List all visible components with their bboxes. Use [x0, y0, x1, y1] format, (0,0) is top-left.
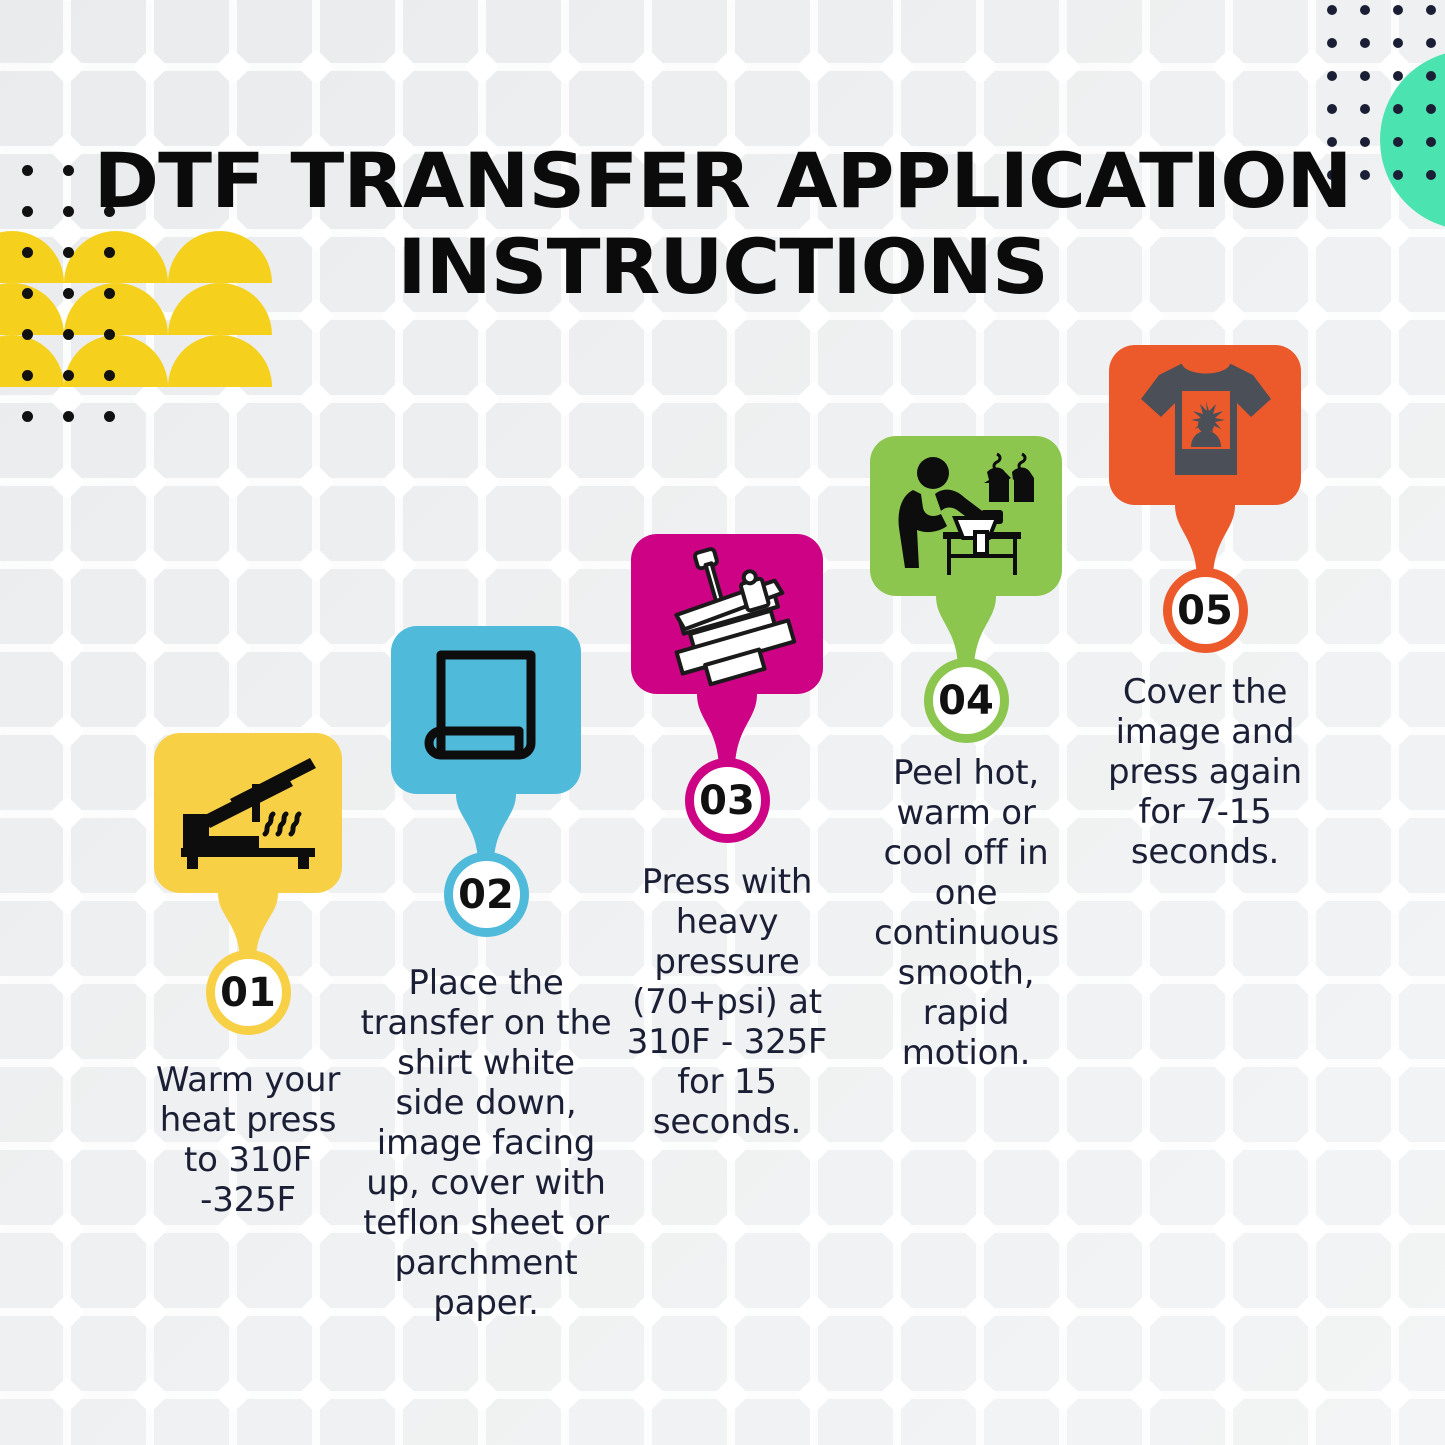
decor-dot	[1360, 104, 1370, 114]
page-title-line1: DTF TRANSFER APPLICATION	[94, 136, 1352, 225]
step-number: 01	[220, 973, 276, 1013]
step-caption: Warm your heat press to 310F -325F	[138, 1060, 358, 1220]
step-caption: Place the transfer on the shirt white si…	[360, 963, 612, 1323]
step-number-bubble[interactable]: 02	[444, 852, 529, 937]
step-icon-card[interactable]	[1109, 345, 1301, 505]
decor-dot	[63, 411, 74, 422]
step-caption: Cover the image and press again for 7-15…	[1107, 672, 1303, 872]
step-connector	[178, 893, 318, 958]
step-connector	[1135, 505, 1275, 576]
peeling-person-icon	[891, 446, 1041, 586]
step-icon-card[interactable]	[631, 534, 823, 694]
decor-dot	[104, 411, 115, 422]
step-number-bubble[interactable]: 01	[206, 950, 291, 1035]
page-title: DTF TRANSFER APPLICATION INSTRUCTIONS	[0, 138, 1445, 310]
step-number-bubble[interactable]: 03	[685, 758, 770, 843]
infographic-canvas: DTF TRANSFER APPLICATION INSTRUCTIONS 01…	[0, 0, 1445, 1445]
step-caption: Press with heavy pressure (70+psi) at 31…	[621, 862, 833, 1142]
decor-dot	[1360, 71, 1370, 81]
decor-dot	[22, 411, 33, 422]
decor-dot	[1426, 71, 1436, 81]
decor-dot	[1393, 71, 1403, 81]
decor-dot	[1393, 38, 1403, 48]
decor-dot	[1360, 38, 1370, 48]
decor-dot	[63, 329, 74, 340]
decor-dot	[1327, 104, 1337, 114]
step-icon-card[interactable]	[870, 436, 1062, 596]
step-caption: Peel hot, warm or cool off in one contin…	[874, 753, 1058, 1073]
step-number: 04	[938, 681, 994, 721]
step-connector	[896, 596, 1036, 666]
decor-dot	[22, 329, 33, 340]
decor-dot	[1393, 5, 1403, 15]
decor-dot	[1393, 104, 1403, 114]
step-number-bubble[interactable]: 05	[1163, 568, 1248, 653]
decor-dot	[1426, 104, 1436, 114]
step-connector	[416, 794, 556, 860]
printed-tshirt-icon	[1133, 355, 1278, 495]
step-connector	[657, 694, 797, 766]
decor-dot	[1327, 38, 1337, 48]
page-title-line2: INSTRUCTIONS	[0, 224, 1445, 310]
decor-dot	[63, 370, 74, 381]
decor-dot	[1327, 5, 1337, 15]
step-number: 03	[699, 781, 755, 821]
decor-dot	[104, 370, 115, 381]
step-icon-card[interactable]	[154, 733, 342, 893]
decor-dot	[22, 370, 33, 381]
heat-press-open-icon	[173, 756, 323, 871]
step-number: 05	[1177, 591, 1233, 631]
heat-press-machine-icon	[652, 539, 802, 689]
decor-dot	[1426, 38, 1436, 48]
decor-dot	[1426, 5, 1436, 15]
decor-dot	[1327, 71, 1337, 81]
decor-dot	[104, 329, 115, 340]
step-number-bubble[interactable]: 04	[924, 658, 1009, 743]
decor-dot	[1360, 5, 1370, 15]
transfer-sheet-icon	[421, 645, 551, 775]
step-icon-card[interactable]	[391, 626, 581, 794]
step-number: 02	[458, 875, 514, 915]
